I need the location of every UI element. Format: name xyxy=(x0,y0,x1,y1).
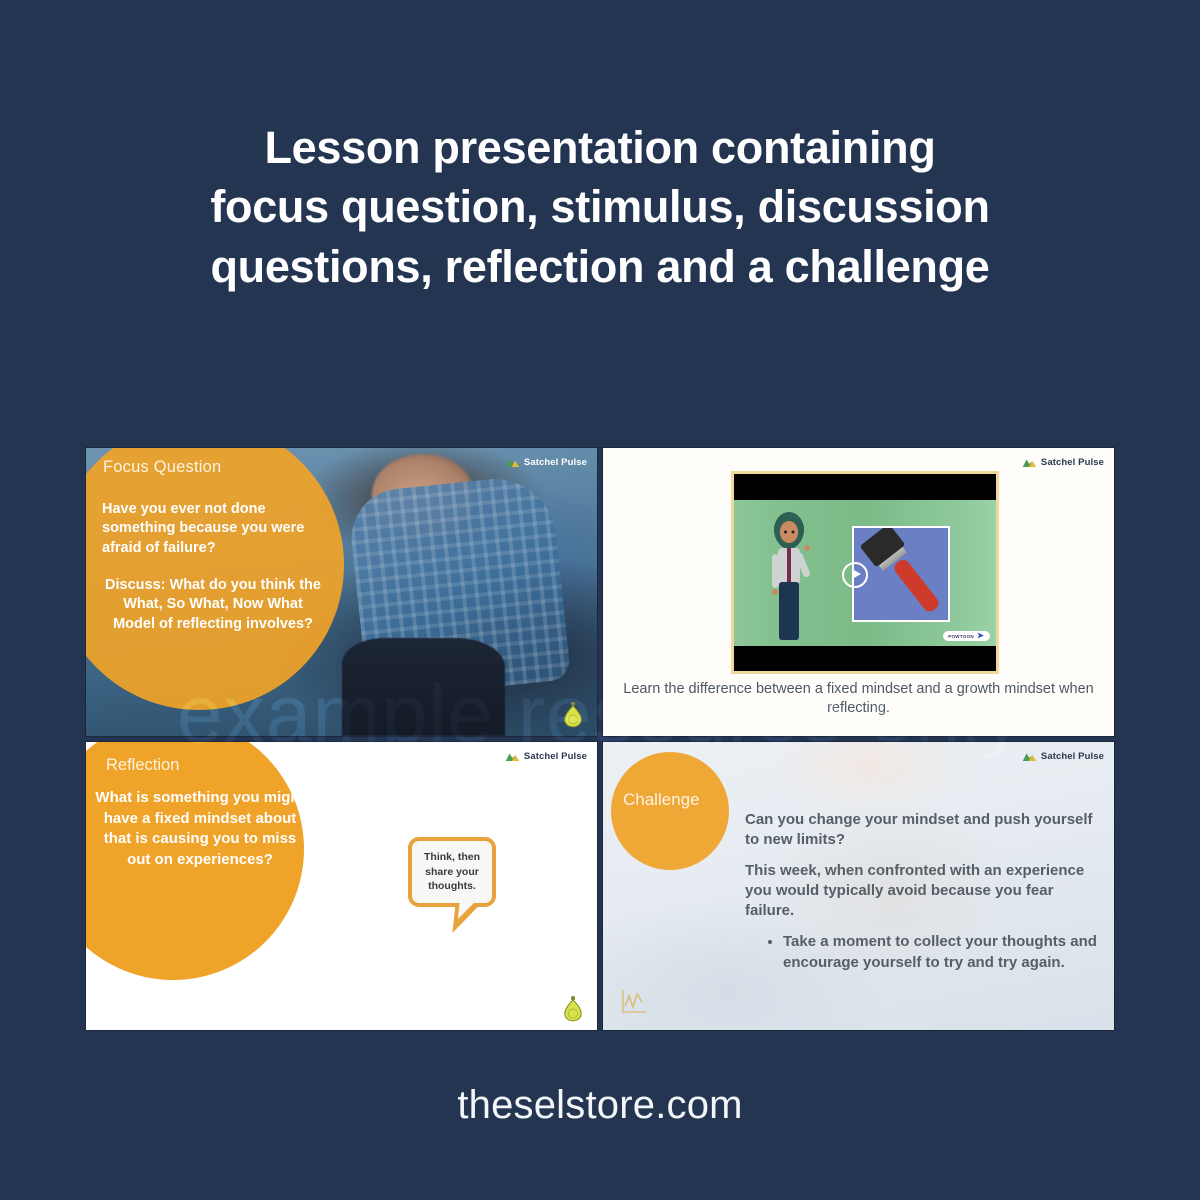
mountain-icon xyxy=(1022,457,1037,468)
slide-stimulus-video[interactable]: POWTOON ➤ Learn the difference between a… xyxy=(603,448,1114,736)
challenge-bullet-item: Take a moment to collect your thoughts a… xyxy=(783,932,1103,972)
video-stage: POWTOON ➤ xyxy=(734,500,996,646)
powtoon-badge: POWTOON ➤ xyxy=(943,631,990,641)
lemon-icon xyxy=(563,996,583,1022)
satchel-pulse-label: Satchel Pulse xyxy=(1041,751,1104,762)
page-title-line-3: questions, reflection and a challenge xyxy=(90,237,1110,296)
challenge-body: Can you change your mindset and push you… xyxy=(745,810,1103,973)
slide-thumbnail-grid: Focus Question Have you ever not done so… xyxy=(86,448,1114,1034)
satchel-pulse-label: Satchel Pulse xyxy=(524,751,587,762)
slide-heading: Challenge xyxy=(623,790,700,810)
satchel-pulse-logo: Satchel Pulse xyxy=(1022,457,1104,468)
animated-teacher-character xyxy=(766,508,812,644)
footer-website: theselstore.com xyxy=(0,1083,1200,1128)
mountain-icon xyxy=(505,457,520,468)
challenge-paragraph-2: This week, when confronted with an exper… xyxy=(745,861,1103,921)
photo-legs xyxy=(342,638,506,736)
powtoon-label: POWTOON xyxy=(948,634,974,639)
slide-heading: Reflection xyxy=(106,756,179,775)
challenge-paragraph-1: Can you change your mindset and push you… xyxy=(745,810,1103,850)
focus-discuss-text: Discuss: What do you think the What, So … xyxy=(102,576,324,634)
slide-focus-question[interactable]: Focus Question Have you ever not done so… xyxy=(86,448,597,736)
stimulus-caption: Learn the difference between a fixed min… xyxy=(613,680,1104,717)
satchel-pulse-logo: Satchel Pulse xyxy=(505,751,587,762)
paintbrush-handle xyxy=(892,557,942,614)
speech-bubble: Think, then share your thoughts. xyxy=(408,837,496,907)
slide-reflection[interactable]: Reflection What is something you might h… xyxy=(86,742,597,1030)
mountain-icon xyxy=(1022,751,1037,762)
page-title-line-2: focus question, stimulus, discussion xyxy=(90,177,1110,236)
speech-bubble-text: Think, then share your thoughts. xyxy=(412,850,492,894)
focus-question-text: Have you ever not done something because… xyxy=(102,500,320,558)
line-chart-icon xyxy=(619,988,649,1016)
challenge-bullet-list: Take a moment to collect your thoughts a… xyxy=(745,932,1103,972)
satchel-pulse-label: Satchel Pulse xyxy=(524,457,587,468)
powtoon-arrow-icon: ➤ xyxy=(977,632,984,640)
reflection-question-text: What is something you might have a fixed… xyxy=(92,788,308,870)
slide-challenge[interactable]: Challenge Can you change your mindset an… xyxy=(603,742,1114,1030)
page-title: Lesson presentation containing focus que… xyxy=(90,118,1110,296)
play-icon[interactable] xyxy=(842,562,868,588)
mountain-icon xyxy=(505,751,520,762)
speech-bubble-tail xyxy=(452,903,481,933)
orange-circle-badge xyxy=(611,752,729,870)
page-title-line-1: Lesson presentation containing xyxy=(90,118,1110,177)
slide-heading: Focus Question xyxy=(103,458,221,477)
satchel-pulse-logo: Satchel Pulse xyxy=(1022,751,1104,762)
satchel-pulse-logo: Satchel Pulse xyxy=(505,457,587,468)
video-player[interactable]: POWTOON ➤ xyxy=(731,471,999,674)
lemon-icon xyxy=(563,702,583,728)
satchel-pulse-label: Satchel Pulse xyxy=(1041,457,1104,468)
